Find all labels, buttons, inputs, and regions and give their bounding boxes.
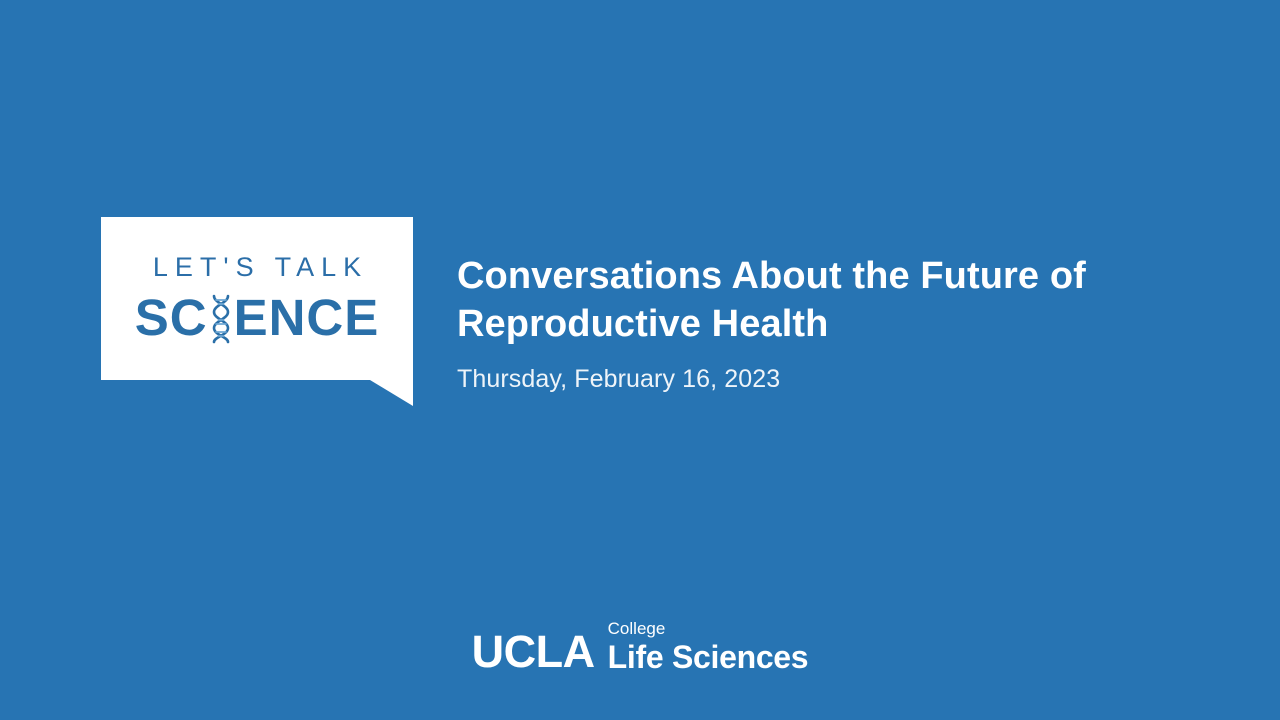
ucla-unit-lockup: College Life Sciences bbox=[608, 620, 809, 673]
lets-talk-science-logo: LET'S TALK SC bbox=[101, 217, 413, 380]
ucla-logo: UCLA College Life Sciences bbox=[0, 620, 1280, 673]
presentation-slide: LET'S TALK SC bbox=[0, 0, 1280, 720]
slide-date: Thursday, February 16, 2023 bbox=[457, 364, 1227, 394]
slide-title: Conversations About the Future of Reprod… bbox=[457, 252, 1227, 349]
ucla-wordmark: UCLA bbox=[472, 629, 595, 674]
slide-title-line-1: Conversations About the Future of bbox=[457, 252, 1227, 300]
ucla-department-label: Life Sciences bbox=[608, 641, 809, 673]
title-block: Conversations About the Future of Reprod… bbox=[457, 252, 1227, 394]
speech-bubble-body bbox=[101, 217, 413, 380]
slide-title-line-2: Reproductive Health bbox=[457, 300, 1227, 348]
ucla-college-label: College bbox=[608, 620, 666, 637]
speech-bubble-tail-icon bbox=[101, 380, 413, 408]
